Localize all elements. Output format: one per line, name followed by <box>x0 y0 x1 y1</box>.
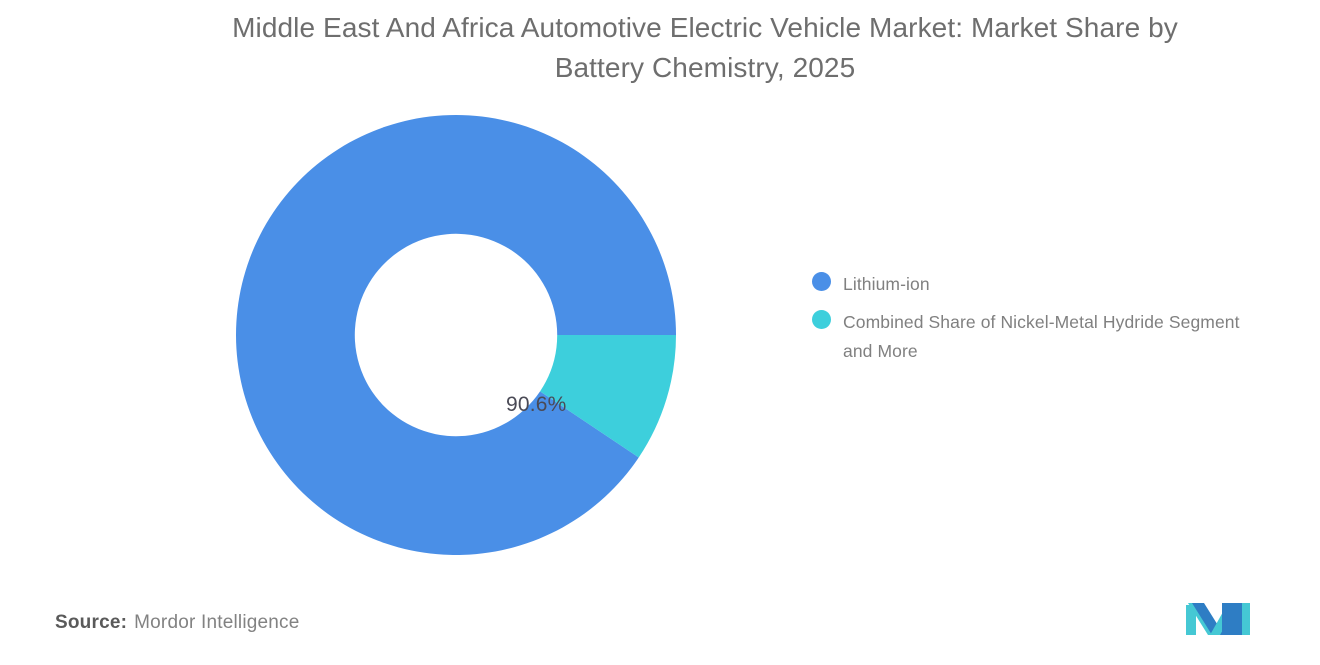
legend-label-lithium-ion: Lithium-ion <box>843 270 930 298</box>
chart-container: Middle East And Africa Automotive Electr… <box>0 0 1320 665</box>
chart-legend: Lithium-ion Combined Share of Nickel-Met… <box>812 270 1272 375</box>
mi-monogram-icon <box>1186 597 1252 639</box>
legend-item-lithium-ion[interactable]: Lithium-ion <box>812 270 1272 298</box>
legend-label-combined-share: Combined Share of Nickel-Metal Hydride S… <box>843 308 1272 365</box>
source-label: Source: <box>55 612 127 633</box>
donut-chart: 90.6% <box>236 115 676 555</box>
mordor-intelligence-logo <box>1186 597 1252 639</box>
legend-swatch-lithium-ion <box>812 272 831 291</box>
source-value: Mordor Intelligence <box>134 612 299 633</box>
donut-svg <box>236 115 676 555</box>
chart-title: Middle East And Africa Automotive Electr… <box>160 8 1250 88</box>
donut-data-label-lithium-ion: 90.6% <box>506 393 567 417</box>
legend-swatch-combined-share <box>812 310 831 329</box>
source-attribution: Source:Mordor Intelligence <box>55 612 300 634</box>
legend-item-combined-share[interactable]: Combined Share of Nickel-Metal Hydride S… <box>812 308 1272 365</box>
